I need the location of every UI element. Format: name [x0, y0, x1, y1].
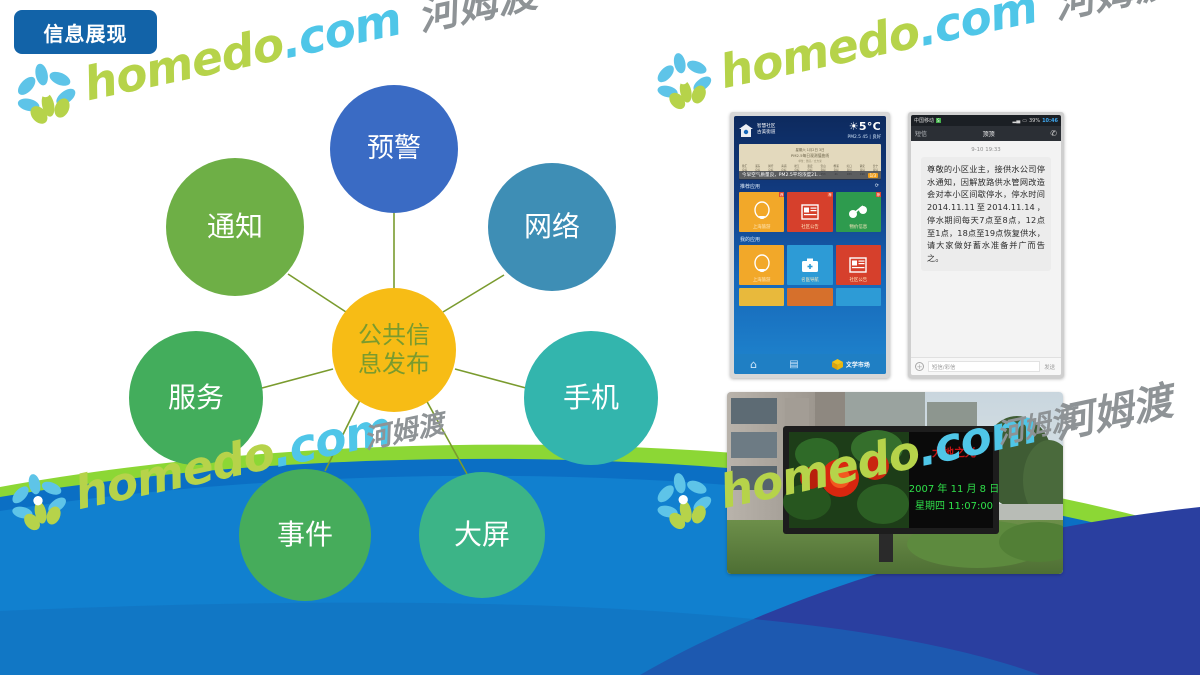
message-timestamp: 9-10 19:33	[911, 147, 1061, 153]
connector-center-daping	[425, 398, 467, 474]
bubble-shijian[interactable]: 事件	[239, 469, 371, 601]
sms-input-bar: + 短信/彩信 发送	[911, 357, 1061, 375]
connector-center-fuwu	[262, 369, 333, 388]
send-button[interactable]: 发送	[1044, 363, 1057, 371]
phone-screenshot-community-app: 智慧社区 古美街道 ☀5°C PM2.5 45 | 良好 星期六 1月2日 3日…	[730, 112, 890, 378]
battery-percent: 39%	[1029, 118, 1040, 124]
watermark-text-main: homedo	[715, 4, 924, 99]
sun-icon: ☀	[849, 120, 859, 133]
app-brand-text: 智慧社区 古美街道	[757, 124, 775, 136]
section-recommend-label: 推荐应用	[740, 183, 760, 190]
partner-logo: 文学市场	[831, 358, 870, 371]
medkit-icon	[800, 256, 820, 274]
app-tile-label: 名医导航	[787, 277, 832, 283]
battery-icon: ▭	[1022, 118, 1027, 124]
partner-logo-text: 文学市场	[846, 360, 870, 369]
connector-center-wangluo	[443, 275, 504, 312]
app-tile-price-info[interactable]: 荐 物价信息	[836, 192, 881, 232]
app-tile-label: 物价信息	[836, 224, 881, 230]
price-icon	[847, 203, 869, 221]
community-app-screen: 智慧社区 古美街道 ☀5°C PM2.5 45 | 良好 星期六 1月2日 3日…	[734, 116, 886, 374]
pm25-card-subtitle: 单位：微克／立方米	[742, 159, 878, 163]
home-badge-icon	[738, 123, 754, 138]
section-my-apps: 我的应用	[740, 236, 886, 243]
inbox-icon[interactable]: ▤	[789, 359, 798, 370]
app-tile-label: 上海旅游	[739, 224, 784, 230]
home-icon[interactable]: ⌂	[750, 358, 757, 371]
refresh-icon[interactable]: ⟳	[875, 183, 879, 190]
app-tile-community-notice[interactable]: 荐 社区公告	[787, 192, 832, 232]
bubble-yujing-label: 预警	[361, 133, 427, 165]
temperature-text: 5°C	[859, 120, 881, 133]
hub-spoke-diagram: 预警 通知 网络 服务 手机 事件 大屏 公共信 息发布	[0, 0, 640, 620]
phone-screenshot-sms: 中国移动 S ▂▄ ▭ 39% 10:46 短信 顶顶 ✆ 9-10 19:33…	[908, 112, 1064, 378]
app-tile-extra-2[interactable]	[787, 288, 832, 306]
status-carrier: 中国移动 S	[914, 117, 941, 124]
cube-icon	[831, 358, 844, 371]
balloon-icon	[752, 254, 772, 276]
app-tile-label: 上海旅游	[739, 277, 784, 283]
status-clock: 10:46	[1042, 118, 1058, 124]
sms-input-field[interactable]: 短信/彩信	[928, 361, 1040, 372]
bubble-daping-label: 大屏	[448, 518, 516, 551]
section-my-apps-label: 我的应用	[740, 236, 760, 243]
bubble-shouji[interactable]: 手机	[524, 331, 658, 465]
app-tile-extra-3[interactable]	[836, 288, 881, 306]
app-tile-doctor-nav[interactable]: 名医导航	[787, 245, 832, 285]
sms-screen: 中国移动 S ▂▄ ▭ 39% 10:46 短信 顶顶 ✆ 9-10 19:33…	[911, 115, 1061, 375]
app-brand: 智慧社区 古美街道	[738, 123, 775, 138]
app-brand-line2: 古美街道	[757, 130, 775, 136]
bottom-nav: ⌂ ▤ 文学市场	[734, 354, 886, 374]
pm25-date-line: 星期六 1月2日 3日	[742, 147, 878, 152]
bubble-tongzhi-label: 通知	[201, 210, 269, 243]
recommend-corner-badge: 荐	[779, 192, 784, 197]
temperature-value: ☀5°C	[848, 120, 881, 133]
conversation-title: 顶顶	[983, 129, 995, 138]
app-tile-label: 社区公告	[836, 277, 881, 283]
phone-icon[interactable]: ✆	[1050, 129, 1057, 138]
led-time-text: 星期四 11:07:00	[915, 500, 993, 512]
back-button[interactable]: 短信	[915, 129, 927, 138]
led-banner-text: 大地之光	[932, 445, 976, 459]
led-date-text: 2007 年 11 月 8 日	[909, 482, 999, 495]
balloon-icon	[752, 201, 772, 223]
news-icon	[848, 256, 868, 274]
app-header: 智慧社区 古美街道 ☀5°C PM2.5 45 | 良好	[734, 116, 886, 142]
pm25-card[interactable]: 星期六 1月2日 3日 PM2.5每日观测值曲线 单位：微克／立方米 徐汇良好2…	[739, 144, 881, 179]
status-carrier-label: 中国移动	[914, 117, 934, 124]
led-billboard-photo: 大地之光 2007 年 11 月 8 日 星期四 11:07:00	[727, 392, 1063, 574]
watermark-text-domain: .com	[913, 0, 1042, 57]
page-title: 信息展现	[14, 10, 157, 54]
weather-widget[interactable]: ☀5°C PM2.5 45 | 良好	[848, 120, 881, 140]
bubble-yujing[interactable]: 预警	[330, 85, 458, 213]
plus-circle-icon[interactable]: +	[915, 362, 924, 371]
watermark-homedo-2: homedo.com 河姆渡	[650, 0, 1177, 115]
homedo-flower-logo-icon	[650, 47, 716, 113]
recommend-tile-row: 荐 上海旅游 荐 社区公告 荐 物价信息	[734, 192, 886, 232]
bubble-fuwu[interactable]: 服务	[129, 331, 263, 465]
air-quality-text: PM2.5 45 | 良好	[848, 134, 881, 140]
bubble-daping[interactable]: 大屏	[419, 472, 545, 598]
news-ticker-badge: 1/3	[868, 173, 878, 178]
app-tile-label: 社区公告	[787, 224, 832, 230]
bubble-shijian-label: 事件	[271, 518, 339, 551]
status-right: ▂▄ ▭ 39% 10:46	[1013, 118, 1058, 124]
connector-center-shouji	[455, 369, 526, 388]
signal-icon: ▂▄	[1013, 118, 1021, 124]
recommend-corner-badge: 荐	[876, 192, 881, 197]
app-tile-shanghai-travel[interactable]: 荐 上海旅游	[739, 192, 784, 232]
page-title-label: 信息展现	[44, 18, 128, 47]
app-tile-community-notice-mine[interactable]: 社区公告	[836, 245, 881, 285]
sms-title-bar: 短信 顶顶 ✆	[911, 126, 1061, 141]
app-tile-extra-1[interactable]	[739, 288, 784, 306]
center-label-line2: 息发布	[358, 350, 430, 379]
bubble-fuwu-label: 服务	[162, 381, 230, 414]
watermark-text-cn: 河姆渡	[1047, 0, 1176, 30]
sim-badge: S	[936, 118, 941, 123]
bubble-tongzhi[interactable]: 通知	[166, 158, 304, 296]
message-bubble: 尊敬的小区业主，接供水公司停水通知，因解放路供水管网改造会对本小区间歇停水，停水…	[921, 157, 1051, 271]
sms-status-bar: 中国移动 S ▂▄ ▭ 39% 10:46	[911, 115, 1061, 126]
bubble-wangluo-label: 网络	[518, 210, 586, 243]
recommend-corner-badge: 荐	[827, 192, 832, 197]
bubble-wangluo[interactable]: 网络	[488, 163, 616, 291]
app-tile-shanghai-travel-mine[interactable]: 上海旅游	[739, 245, 784, 285]
news-ticker-text: 今早空气质量良，PM2.5平均浓度21…	[742, 172, 822, 178]
led-photo-svg: 大地之光 2007 年 11 月 8 日 星期四 11:07:00	[727, 392, 1063, 574]
center-label-line1: 公共信	[358, 321, 430, 350]
bubble-shouji-label: 手机	[557, 381, 625, 414]
news-icon	[800, 203, 820, 221]
connector-center-shijian	[325, 398, 361, 471]
news-ticker[interactable]: 今早空气质量良，PM2.5平均浓度21… 1/3	[739, 171, 881, 180]
connector-center-tongzhi	[288, 274, 346, 312]
extra-tile-row	[734, 288, 886, 306]
my-apps-tile-row: 上海旅游 名医导航 社区公告	[734, 245, 886, 285]
bubble-center-public-info[interactable]: 公共信 息发布	[332, 288, 456, 412]
section-recommend: 推荐应用 ⟳	[740, 183, 886, 190]
